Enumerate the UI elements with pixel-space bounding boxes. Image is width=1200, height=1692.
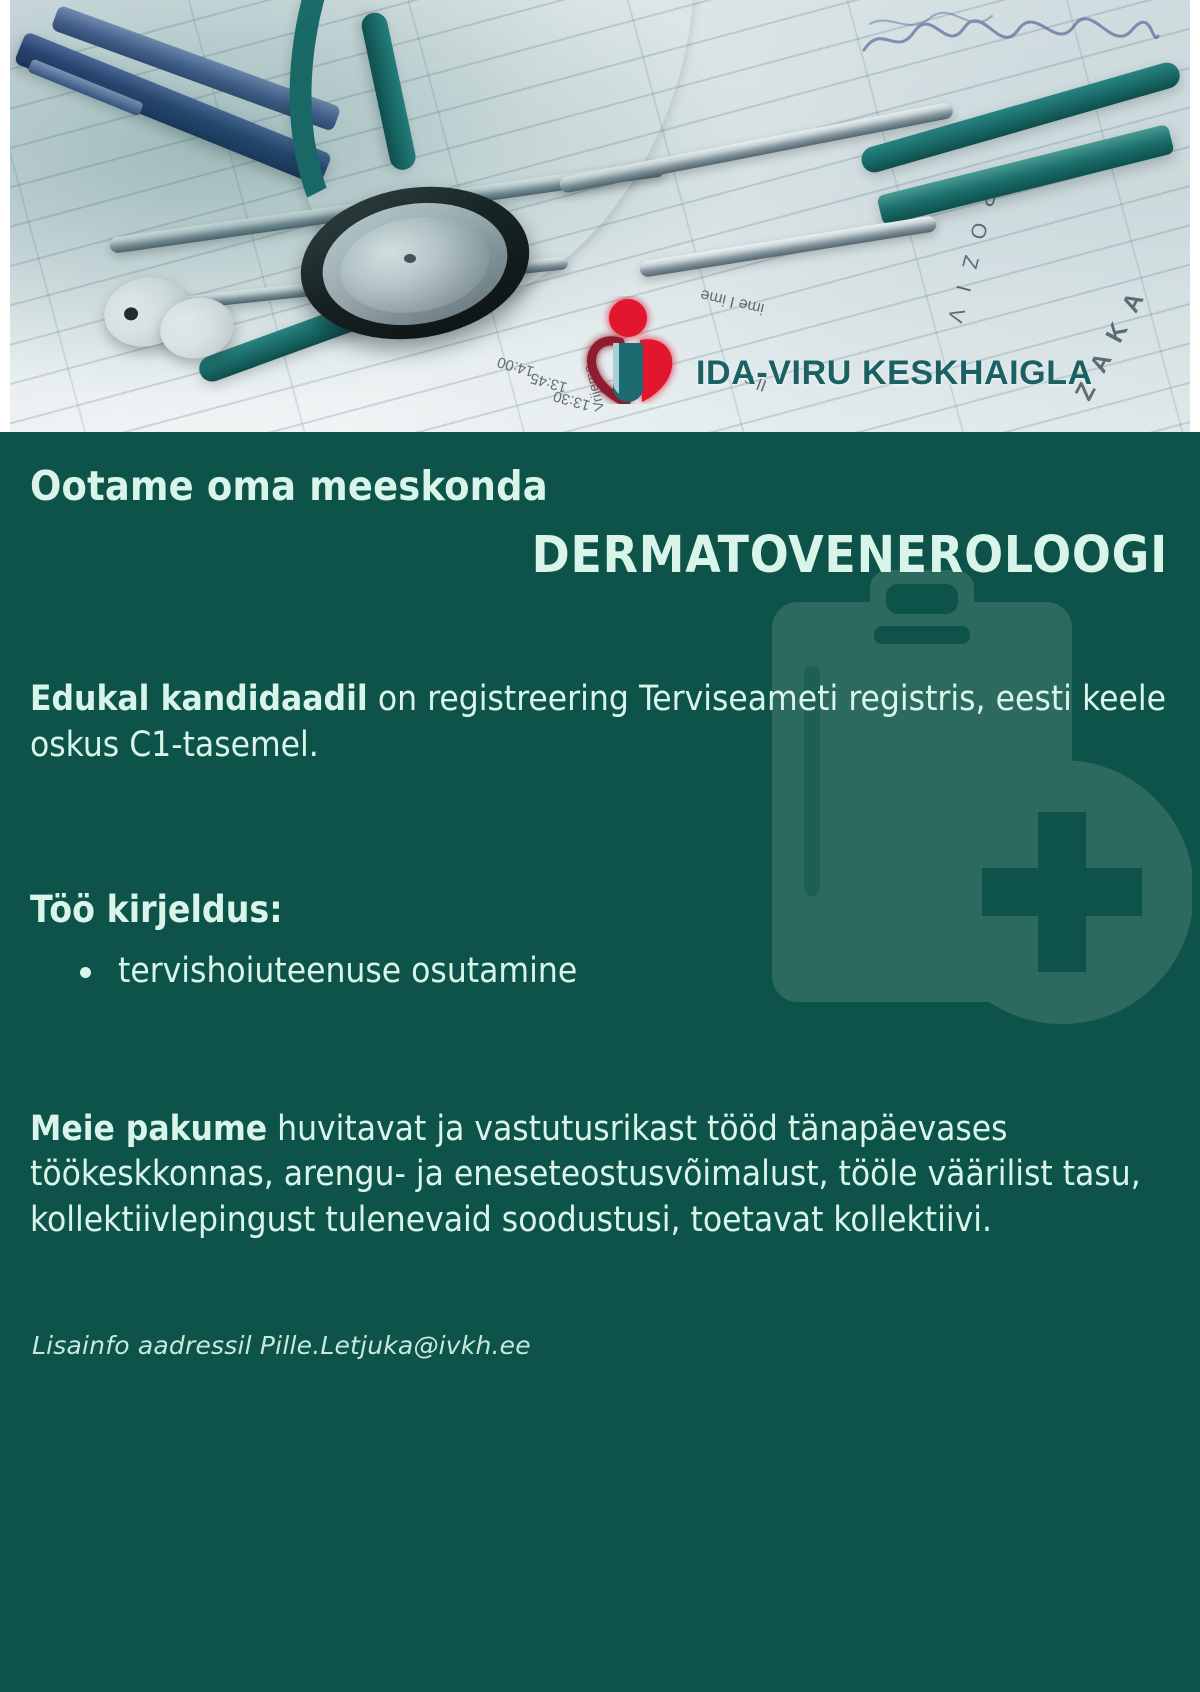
header-right-margin bbox=[1190, 0, 1200, 432]
job-description-list: tervishoiuteenuse osutamine bbox=[28, 949, 1172, 995]
ivkh-person-heart-logo-icon bbox=[580, 296, 680, 404]
list-item: tervishoiuteenuse osutamine bbox=[80, 949, 1172, 995]
poster-body: Ootame oma meeskonda DERMATOVENEROLOOGI … bbox=[0, 432, 1200, 1692]
spacer-3 bbox=[28, 931, 1172, 939]
requirements-bold-lead: Edukal kandidaadil bbox=[30, 679, 368, 719]
contact-footer: Lisainfo aadressil Pille.Letjuka@ivkh.ee bbox=[32, 1331, 1172, 1360]
requirements-paragraph: Edukal kandidaadil on registreering Terv… bbox=[30, 677, 1166, 768]
poster-content: Ootame oma meeskonda DERMATOVENEROLOOGI … bbox=[0, 432, 1200, 1360]
hospital-logo: IDA-VIRU KESKHAIGLA bbox=[580, 296, 1093, 404]
role-title: DERMATOVENEROLOOGI bbox=[28, 526, 1168, 585]
job-advert-poster: P O Z I V Z A K A ime I ime 14:00 13:45 … bbox=[0, 0, 1200, 1692]
spacer-2 bbox=[28, 768, 1172, 888]
header-left-margin bbox=[0, 0, 10, 432]
intro-line: Ootame oma meeskonda bbox=[30, 462, 1172, 510]
spacer-5 bbox=[28, 1243, 1172, 1331]
job-description-heading: Töö kirjeldus: bbox=[30, 888, 1172, 931]
header-photo-band: P O Z I V Z A K A ime I ime 14:00 13:45 … bbox=[0, 0, 1200, 432]
spacer-4 bbox=[28, 995, 1172, 1107]
hospital-name: IDA-VIRU KESKHAIGLA bbox=[696, 356, 1093, 404]
spacer-1 bbox=[28, 585, 1172, 677]
offer-paragraph: Meie pakume huvitavat ja vastutusrikast … bbox=[30, 1107, 1166, 1244]
offer-bold-lead: Meie pakume bbox=[30, 1109, 267, 1149]
